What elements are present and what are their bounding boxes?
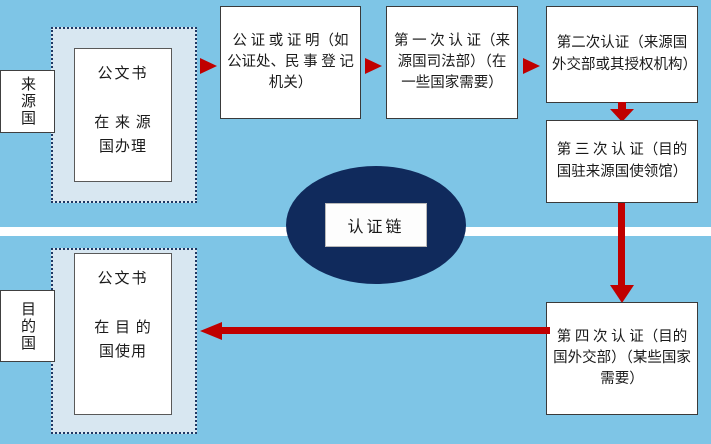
hub-label-text: 认证链 xyxy=(347,213,404,237)
arrow-notarization-to-first xyxy=(363,55,385,77)
destination-document-subtitle: 在 目 的 国使用 xyxy=(88,317,158,364)
destination-country-text: 目的国 xyxy=(17,301,38,352)
origin-document-card: 公文书 在 来 源 国办理 xyxy=(74,48,172,182)
hub-label-box: 认证链 xyxy=(325,203,427,247)
step-notarization[interactable]: 公 证 或 证 明（如公证处、民 事 登 记 机关） xyxy=(220,6,361,119)
step-first-authentication-text: 第 一 次 认 证（来源国司法部）（在一些国家需要） xyxy=(392,31,512,94)
origin-document-title: 公文书 xyxy=(97,63,148,86)
arrow-fourth-to-destination xyxy=(200,320,550,342)
authentication-chain-diagram: 公文书 在 来 源 国办理 来源国 公 证 或 证 明（如公证处、民 事 登 记… xyxy=(0,0,711,444)
step-third-authentication[interactable]: 第 三 次 认 证（目的国驻来源国使领馆） xyxy=(546,120,698,203)
step-first-authentication[interactable]: 第 一 次 认 证（来源国司法部）（在一些国家需要） xyxy=(386,6,518,119)
step-third-authentication-text: 第 三 次 认 证（目的国驻来源国使领馆） xyxy=(552,140,692,182)
destination-document-card: 公文书 在 目 的 国使用 xyxy=(74,253,172,415)
step-second-authentication-text: 第二次认证（来源国外交部或其授权机构） xyxy=(552,33,692,75)
destination-document-title: 公文书 xyxy=(97,268,148,291)
arrow-doc-to-notarization xyxy=(198,55,220,77)
destination-country-label: 目的国 xyxy=(0,290,55,362)
origin-document-subtitle: 在 来 源 国办理 xyxy=(88,112,158,159)
step-notarization-text: 公 证 或 证 明（如公证处、民 事 登 记 机关） xyxy=(226,31,355,94)
origin-country-label: 来源国 xyxy=(0,70,55,133)
arrow-first-to-second xyxy=(521,55,543,77)
step-second-authentication[interactable]: 第二次认证（来源国外交部或其授权机构） xyxy=(546,6,698,103)
arrow-third-to-fourth xyxy=(608,203,636,305)
step-fourth-authentication[interactable]: 第 四 次 认 证（目的国外交部）（某些国家需要） xyxy=(546,302,698,415)
step-fourth-authentication-text: 第 四 次 认 证（目的国外交部）（某些国家需要） xyxy=(552,327,692,390)
origin-country-text: 来源国 xyxy=(17,76,38,127)
